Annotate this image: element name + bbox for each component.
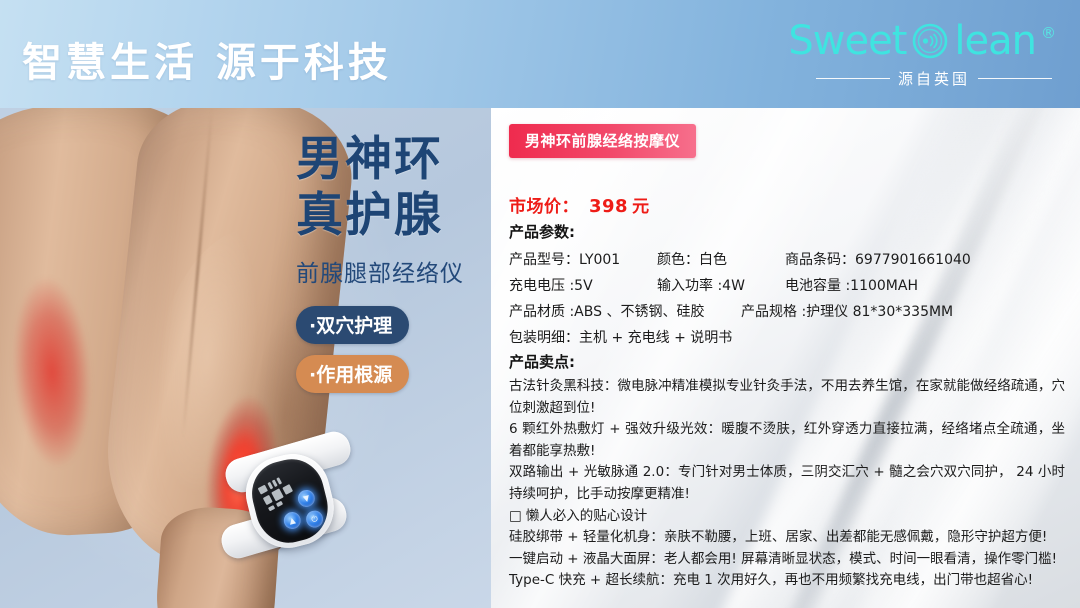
param-cell-color: 颜色：白色 [657,247,785,273]
tagline-divider-right [978,78,1052,79]
product-info-panel: 男神环前腺经络按摩仪 市场价：398元 产品参数: 产品型号：LY001 颜色：… [491,108,1080,608]
param-row: 充电电压 :5V 输入功率 :4W 电池容量 :1100MAH [509,273,1069,299]
product-params-table: 产品型号：LY001 颜色：白色 商品条码：6977901661040 充电电压… [509,247,1069,351]
param-row: 产品型号：LY001 颜色：白色 商品条码：6977901661040 [509,247,1069,273]
selling-point-item: 硅胶绑带 + 轻量化机身：亲肤不勒腰，上班、居家、出差都能无感佩戴，隐形守护超方… [509,527,1065,549]
param-cell-model: 产品型号：LY001 [509,247,657,273]
poster-badge-dual-acupoint: ·双穴护理 [296,306,409,344]
massager-device: ▼ ▲ ⏻ [230,441,356,559]
product-name-tag: 男神环前腺经络按摩仪 [509,124,696,158]
selling-points-list: 古法针灸黑科技：微电脉冲精准模拟专业针灸手法，不用去养生馆，在家就能做经络疏通，… [509,376,1065,592]
param-row: 产品材质 :ABS 、不锈钢、硅胶 产品规格 :护理仪 81*30*335MM [509,299,1069,325]
param-cell-dimensions: 产品规格 :护理仪 81*30*335MM [741,299,953,325]
selling-point-item: 6 颗红外热敷灯 + 强效升级光效：暖腹不烫肤，红外穿透力直接拉满，经络堵点全疏… [509,419,1065,462]
device-power-button[interactable]: ⏻ [304,509,325,530]
brand-logo-wordmark: Sweet lean ® [766,18,1056,64]
selling-point-item: Type-C 快充 + 超长续航：充电 1 次用好久，再也不用频繁找充电线，出门… [509,570,1065,592]
device-mode-up-button[interactable]: ▲ [282,510,303,531]
product-hero-photo: ▼ ▲ ⏻ 男神环 真护腺 前腺腿部经络仪 ·双穴护理 ·作用根源 [0,108,491,608]
therapy-glow-secondary [0,244,109,502]
poster-title-line2: 真护腺 [296,188,491,244]
param-cell-barcode: 商品条码：6977901661040 [785,247,971,273]
header-slogan: 智慧生活 源于科技 [22,30,392,88]
param-cell-power: 输入功率 :4W [657,273,785,299]
param-cell-voltage: 充电电压 :5V [509,273,657,299]
market-price: 市场价：398元 [509,192,650,217]
poster-badge-root-cause: ·作用根源 [296,355,409,393]
poster-copy: 男神环 真护腺 前腺腿部经络仪 ·双穴护理 ·作用根源 [296,132,491,393]
brand-tagline: 源自英国 [898,68,970,89]
param-cell-material: 产品材质 :ABS 、不锈钢、硅胶 [509,299,741,325]
brand-tagline-row: 源自英国 [766,68,1056,89]
brand-logo: Sweet lean ® 源自英国 [766,18,1056,94]
selling-point-item: 古法针灸黑科技：微电脉冲精准模拟专业针灸手法，不用去养生馆，在家就能做经络疏通，… [509,376,1065,419]
params-heading: 产品参数: [509,221,575,242]
brand-circle-signal-icon [910,21,950,61]
poster-title-line1: 男神环 [296,132,491,188]
brand-word-lean: lean [954,20,1036,62]
poster-subtitle: 前腺腿部经络仪 [296,254,491,288]
price-value: 398 [579,196,632,217]
selling-point-item: 一键启动 + 液晶大面屏：老人都会用! 屏幕清晰显状态，模式、时间一眼看清，操作… [509,549,1065,571]
poster-badge-list: ·双穴护理 ·作用根源 [296,306,491,393]
price-label: 市场价： [509,197,579,217]
product-info-content: 男神环前腺经络按摩仪 市场价：398元 产品参数: 产品型号：LY001 颜色：… [491,108,1080,608]
selling-points-heading: 产品卖点: [509,351,575,372]
param-row: 包装明细：主机 + 充电线 + 说明书 [509,325,1069,351]
param-cell-package: 包装明细：主机 + 充电线 + 说明书 [509,325,732,351]
device-lcd-screen [255,468,305,512]
price-unit: 元 [632,197,650,217]
selling-point-item: 懒人必入的贴心设计 [509,506,1065,528]
page-header: 智慧生活 源于科技 Sweet lean ® 源自英 [0,0,1080,108]
brand-word-sweet: Sweet [788,20,906,62]
registered-trademark-icon: ® [1041,26,1056,40]
selling-point-item: 双路输出 + 光敏脉通 2.0：专门针对男士体质，三阴交汇穴 + 髓之会穴双穴同… [509,462,1065,505]
tagline-divider-left [816,78,890,79]
param-cell-battery: 电池容量 :1100MAH [785,273,918,299]
product-detail-page: 智慧生活 源于科技 Sweet lean ® 源自英 [0,0,1080,608]
